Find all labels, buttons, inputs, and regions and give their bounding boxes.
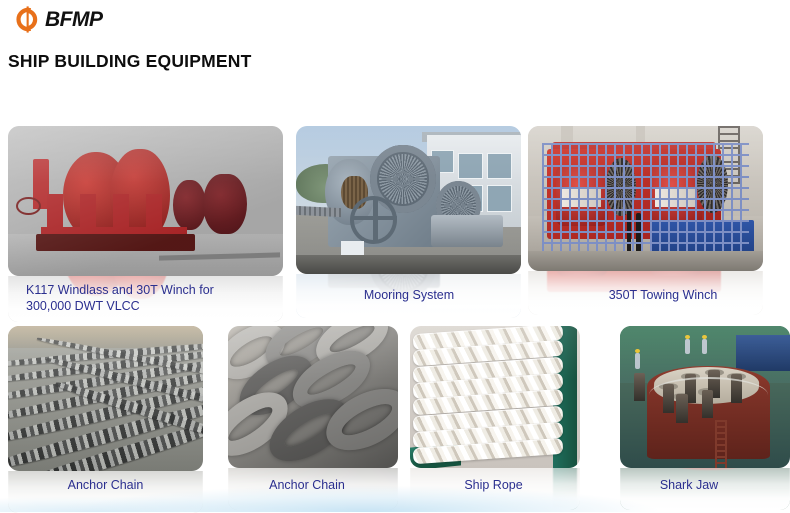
brand-logo[interactable]: BFMP (14, 4, 103, 34)
gallery-caption: K117 Windlass and 30T Winch for 300,000 … (0, 283, 290, 314)
gallery-item-towing-winch[interactable]: 350T Towing Winch (528, 126, 790, 322)
photo-towing-winch (528, 126, 763, 271)
photo-anchor-chain-closeup (228, 326, 398, 468)
gallery-item-mooring-system[interactable]: Mooring System (290, 126, 528, 322)
caption-line-2: 300,000 DWT VLCC (26, 299, 284, 315)
brand-name: BFMP (45, 9, 103, 30)
gallery-item-anchor-chain-rows[interactable]: Anchor Chain (0, 326, 205, 513)
page-title: SHIP BUILDING EQUIPMENT (8, 51, 251, 72)
photo-windlass (8, 126, 283, 276)
gallery-caption: 350T Towing Winch (528, 288, 790, 304)
gallery-caption: Ship Rope (395, 478, 590, 494)
gallery-item-anchor-chain-closeup[interactable]: Anchor Chain (205, 326, 395, 513)
gallery-caption: Anchor Chain (0, 478, 205, 494)
photo-anchor-chain-rows (8, 326, 203, 471)
gallery-row-top: K117 Windlass and 30T Winch for 300,000 … (0, 126, 790, 322)
photo-shark-jaw (620, 326, 790, 468)
gallery-caption: Mooring System (290, 288, 528, 304)
photo-ship-rope (410, 326, 580, 468)
gallery-caption: Anchor Chain (205, 478, 395, 494)
gallery-item-windlass[interactable]: K117 Windlass and 30T Winch for 300,000 … (0, 126, 290, 322)
photo-mooring-system (296, 126, 521, 274)
bfmp-orange-ring-logo-icon (14, 6, 42, 33)
gallery-caption: Shark Jaw (590, 478, 780, 494)
caption-line-1: K117 Windlass and 30T Winch for (26, 283, 284, 299)
gallery-item-shark-jaw[interactable]: Shark Jaw (590, 326, 780, 513)
gallery-item-ship-rope[interactable]: Ship Rope (395, 326, 590, 513)
gallery-row-bottom: Anchor Chain Anchor Chain (0, 326, 780, 513)
